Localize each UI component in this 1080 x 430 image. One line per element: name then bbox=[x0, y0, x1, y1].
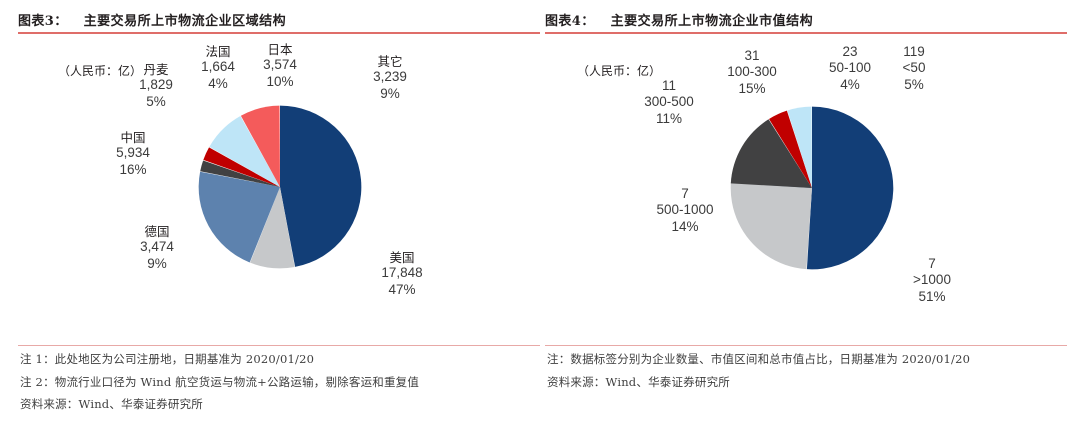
figures-page: 图表3： 主要交易所上市物流企业区域结构 （人民币：亿） bbox=[0, 0, 1080, 430]
chart3-pie-svg bbox=[197, 104, 363, 270]
chart3-title-tag: 图表3： bbox=[18, 10, 68, 29]
figure-panel-chart4: 图表4： 主要交易所上市物流企业市值结构 （人民币：亿） bbox=[545, 0, 1067, 430]
chart3-pie bbox=[197, 104, 363, 270]
chart3-label-us: 美国 17,848 47% bbox=[366, 250, 438, 298]
chart4-label-50-100: 23 50-100 4% bbox=[817, 44, 883, 93]
chart3-label-denmark: 丹麦 1,829 5% bbox=[124, 62, 188, 110]
chart4-label-300-500: 11 300-500 11% bbox=[629, 78, 709, 127]
chart3-label-japan: 日本 3,574 10% bbox=[248, 42, 312, 90]
chart4-plot-area: （人民币：亿） bbox=[545, 34, 1067, 344]
chart4-unit-label: （人民币：亿） bbox=[577, 62, 661, 79]
chart3-title-row: 图表3： 主要交易所上市物流企业区域结构 bbox=[18, 10, 540, 29]
chart4-slice-gt1000 bbox=[807, 107, 893, 270]
chart4-label-gt1000: 7 >1000 51% bbox=[897, 256, 967, 305]
chart4-note-1: 注：数据标签分别为企业数量、市值区间和总市值占比，日期基准为 2020/01/2… bbox=[547, 354, 1069, 366]
chart3-title-text: 主要交易所上市物流企业区域结构 bbox=[84, 10, 287, 29]
chart4-label-lt50: 119 <50 5% bbox=[887, 44, 941, 93]
chart3-label-china: 中国 5,934 16% bbox=[100, 130, 166, 178]
chart3-note-2: 注 2：物流行业口径为 Wind 航空货运与物流+公路运输，剔除客运和重复值 bbox=[20, 377, 542, 389]
chart3-plot-area: （人民币：亿） bbox=[18, 34, 540, 344]
chart4-label-500-1000: 7 500-1000 14% bbox=[641, 186, 729, 235]
chart3-label-france: 法国 1,664 4% bbox=[186, 44, 250, 92]
chart3-source: 资料来源：Wind、华泰证券研究所 bbox=[20, 399, 542, 411]
figure-panel-chart3: 图表3： 主要交易所上市物流企业区域结构 （人民币：亿） bbox=[18, 0, 540, 430]
chart3-note-1: 注 1：此处地区为公司注册地，日期基准为 2020/01/20 bbox=[20, 354, 542, 366]
chart4-title-text: 主要交易所上市物流企业市值结构 bbox=[611, 10, 814, 29]
chart4-pie bbox=[729, 105, 895, 271]
chart4-footer-rule bbox=[545, 345, 1067, 346]
chart3-notes: 注 1：此处地区为公司注册地，日期基准为 2020/01/20 注 2：物流行业… bbox=[20, 354, 542, 422]
chart3-slice-us bbox=[280, 106, 361, 267]
chart3-label-other: 其它 3,239 9% bbox=[358, 54, 422, 102]
chart4-source: 资料来源：Wind、华泰证券研究所 bbox=[547, 377, 1069, 389]
chart3-label-germany: 德国 3,474 9% bbox=[124, 224, 190, 272]
chart4-title-row: 图表4： 主要交易所上市物流企业市值结构 bbox=[545, 10, 1067, 29]
chart4-pie-svg bbox=[729, 105, 895, 271]
chart4-notes: 注：数据标签分别为企业数量、市值区间和总市值占比，日期基准为 2020/01/2… bbox=[547, 354, 1069, 399]
chart4-title-tag: 图表4： bbox=[545, 10, 595, 29]
chart3-footer-rule bbox=[18, 345, 540, 346]
chart4-label-100-300: 31 100-300 15% bbox=[715, 48, 789, 97]
